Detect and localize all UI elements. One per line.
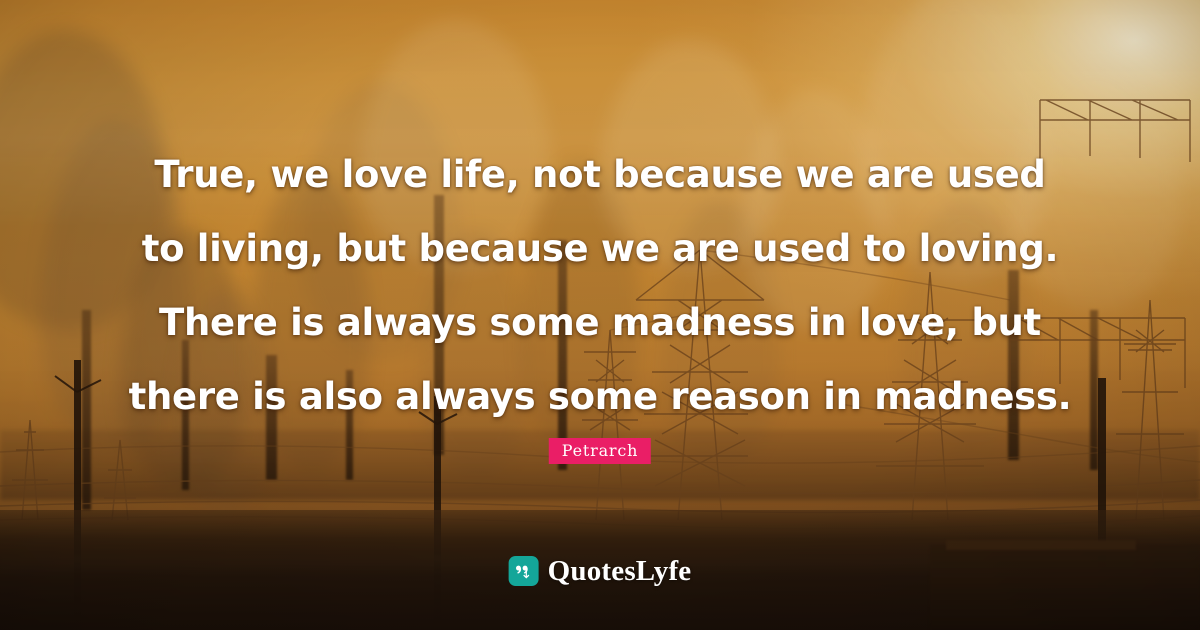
quote-line-4: there is also always some reason in madn… — [70, 360, 1130, 434]
quote-mark-icon — [509, 556, 539, 586]
quote-line-1: True, we love life, not because we are u… — [70, 138, 1130, 212]
quote-card: True, we love life, not because we are u… — [0, 0, 1200, 630]
brand-name: QuotesLyfe — [548, 557, 692, 586]
quote-text: True, we love life, not because we are u… — [70, 138, 1130, 434]
quote-line-3: There is always some madness in love, bu… — [70, 286, 1130, 360]
brand-logo[interactable]: QuotesLyfe — [509, 556, 692, 586]
card-content: True, we love life, not because we are u… — [0, 0, 1200, 630]
author-badge[interactable]: Petrarch — [549, 438, 651, 464]
quote-line-2: to living, but because we are used to lo… — [70, 212, 1130, 286]
